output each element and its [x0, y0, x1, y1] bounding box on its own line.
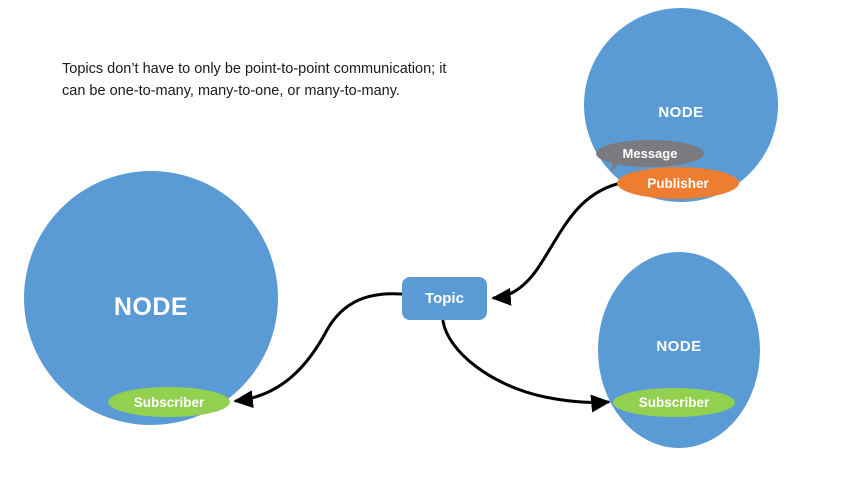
diagram-canvas: Topics don’t have to only be point-to-po…	[0, 0, 854, 480]
node-bottom-right[interactable]: NODE	[598, 252, 760, 448]
node-left-label: NODE	[24, 293, 278, 322]
subscriber-pill-bottom-right[interactable]: Subscriber	[613, 388, 735, 417]
message-bubble[interactable]: Message	[596, 140, 704, 167]
topic-box[interactable]: Topic	[402, 277, 487, 320]
arrow-publisher-to-topic	[494, 184, 617, 298]
node-bottom-right-label: NODE	[598, 338, 760, 355]
subscriber-pill-bottom-right-label: Subscriber	[639, 395, 710, 410]
publisher-pill-label: Publisher	[647, 176, 709, 191]
caption-text: Topics don’t have to only be point-to-po…	[62, 58, 482, 103]
message-bubble-label: Message	[623, 146, 678, 161]
publisher-pill[interactable]: Publisher	[617, 167, 739, 199]
subscriber-pill-left[interactable]: Subscriber	[108, 387, 230, 417]
topic-box-label: Topic	[425, 290, 464, 307]
subscriber-pill-left-label: Subscriber	[134, 395, 205, 410]
node-top-right-label: NODE	[584, 104, 778, 121]
arrow-topic-to-bottom-right-subscriber	[443, 321, 608, 402]
